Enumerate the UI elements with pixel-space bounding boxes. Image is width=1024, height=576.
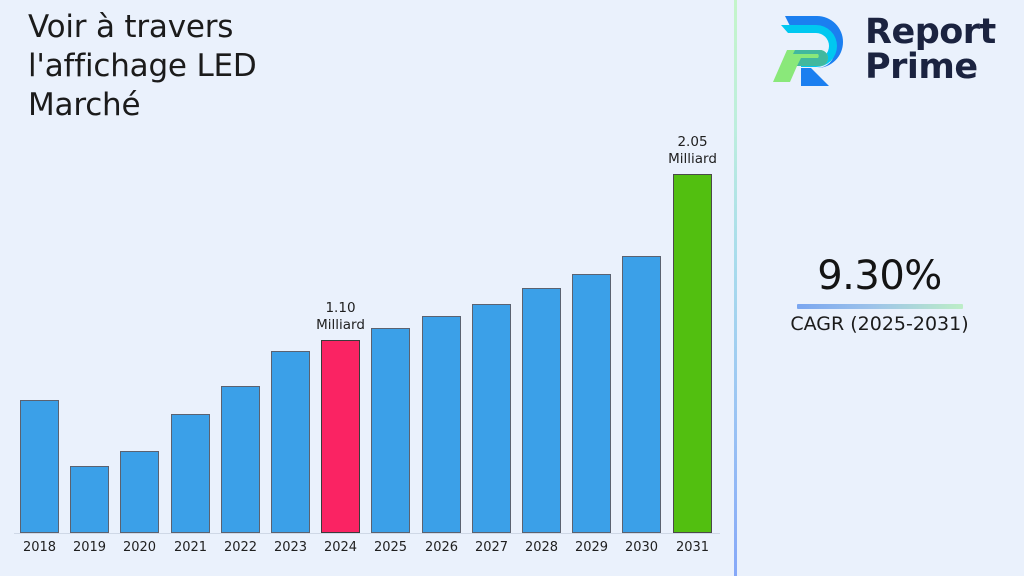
bar-2028[interactable] xyxy=(522,288,561,533)
bar-2021[interactable] xyxy=(171,414,210,533)
cagr-caption: CAGR (2025-2031) xyxy=(735,312,1024,337)
x-tick-2031: 2031 xyxy=(663,540,723,555)
bar-value-label-2024: 1.10 Milliard xyxy=(296,300,386,334)
cagr-divider-rule xyxy=(797,304,963,309)
bar-2018[interactable] xyxy=(20,400,59,533)
brand-panel: Report Prime 9.30% CAGR (2025-2031) xyxy=(735,0,1024,576)
bar-2022[interactable] xyxy=(221,386,260,533)
cagr-value: 9.30% xyxy=(735,252,1024,300)
bar-2031[interactable] xyxy=(673,174,712,533)
cagr-block: 9.30% CAGR (2025-2031) xyxy=(735,252,1024,337)
bar-2030[interactable] xyxy=(622,256,661,533)
bar-2029[interactable] xyxy=(572,274,611,533)
plot-area: 1.10 Milliard2.05 Milliard 2018201920202… xyxy=(0,0,735,576)
bar-2025[interactable] xyxy=(371,328,410,533)
bar-2019[interactable] xyxy=(70,466,109,533)
bar-2026[interactable] xyxy=(422,316,461,533)
bar-2024[interactable] xyxy=(321,340,360,533)
brand-logo: Report Prime xyxy=(771,12,996,88)
report-prime-logo-mark xyxy=(771,12,853,88)
page-root: Voir à travers l'affichage LED Marché 1.… xyxy=(0,0,1024,576)
chart-panel: Voir à travers l'affichage LED Marché 1.… xyxy=(0,0,735,576)
bar-2027[interactable] xyxy=(472,304,511,533)
brand-name: Report Prime xyxy=(865,15,996,85)
x-axis-line xyxy=(14,533,720,534)
bar-value-label-2031: 2.05 Milliard xyxy=(648,134,738,168)
bar-2023[interactable] xyxy=(271,351,310,533)
bar-2020[interactable] xyxy=(120,451,159,533)
